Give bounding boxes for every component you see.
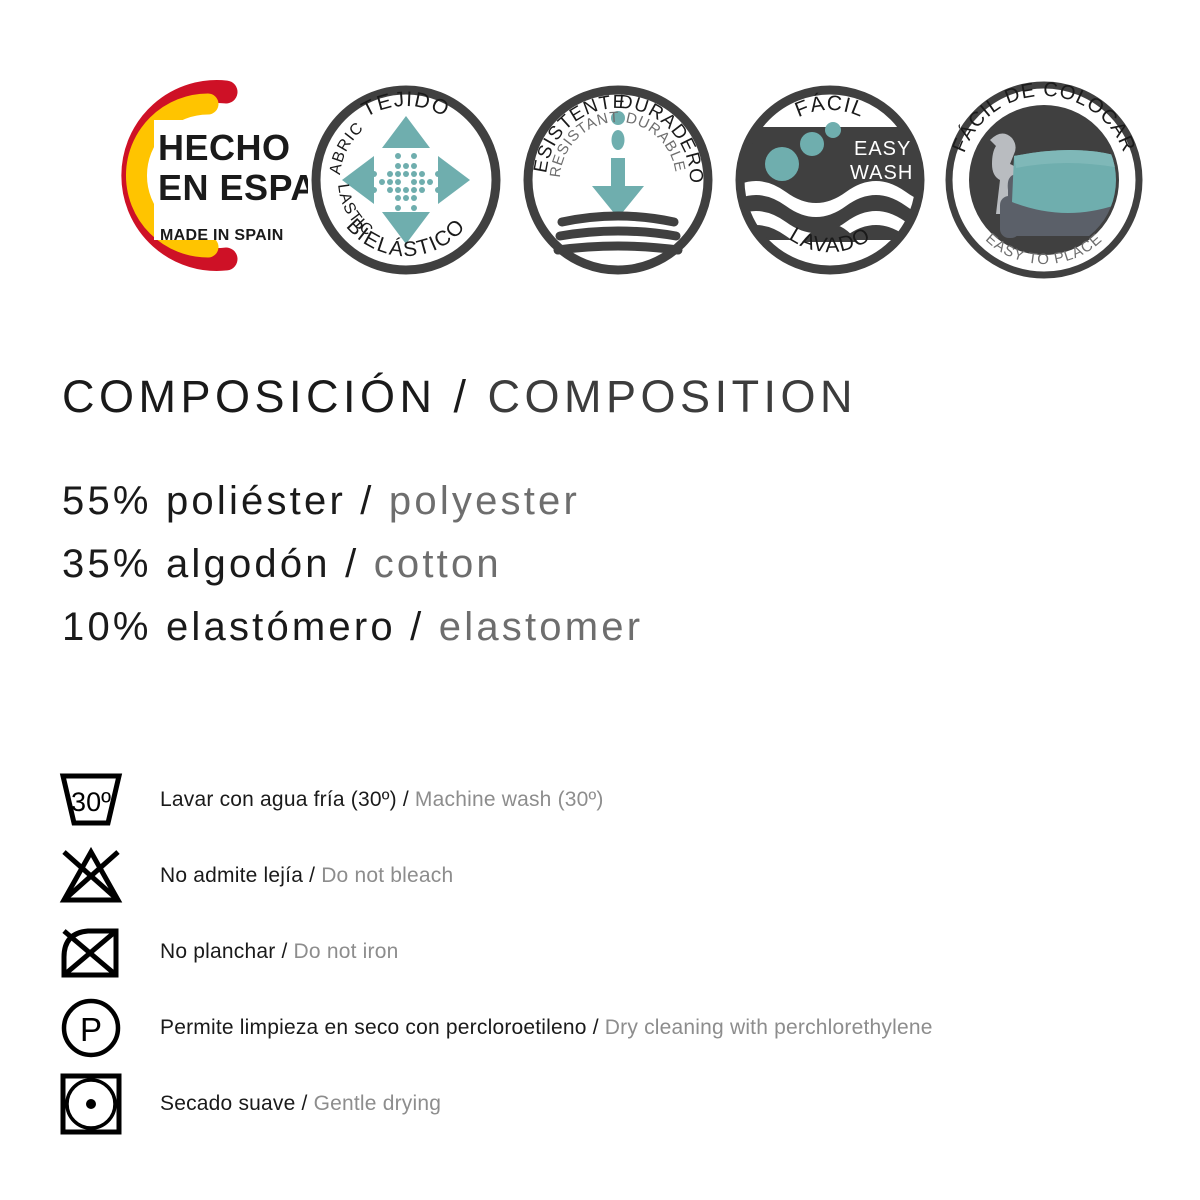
composition-item-en: cotton (374, 542, 502, 586)
care-text-en: Do not bleach (321, 864, 453, 887)
care-instruction-row: P Permite limpieza en seco con percloroe… (58, 990, 1158, 1066)
care-instruction-text: No admite lejía / Do not bleach (138, 863, 453, 888)
composition-item-en: elastomer (439, 605, 643, 649)
composition-heading: COMPOSICIÓN / COMPOSITION (62, 372, 1122, 422)
gentle-tumble-dry-icon (58, 1068, 138, 1140)
bubble-medium (800, 132, 824, 156)
care-text-es: No admite lejía (160, 864, 303, 887)
composition-item-sep: / (331, 542, 374, 586)
facil-lavado-badge: FÁCIL LAVADO EASY WASH (732, 82, 928, 278)
tejido-bielastico-badge: TEJIDO BIELÁSTICO FABRIC BIELASTIC (308, 82, 504, 278)
product-care-label-page: HECHO EN ESPAÑA MADE IN SPAIN (0, 0, 1200, 1200)
composition-section: COMPOSICIÓN / COMPOSITION 55% poliéster … (62, 372, 1122, 659)
resistente-duradero-badge: RESISTENTE DURADERO RESISTANT DURABLE (520, 82, 716, 278)
composition-list: 55% poliéster / polyester 35% algodón / … (62, 470, 1122, 659)
facil-de-colocar-badge: FÁCIL DE COLOCAR EASY TO PLACE (942, 78, 1146, 282)
care-text-en: Do not iron (294, 940, 399, 963)
easy-label: EASY (854, 138, 911, 160)
care-instruction-text: Secado suave / Gentle drying (138, 1091, 441, 1116)
care-text-es: No planchar (160, 940, 275, 963)
composition-item-es: 10% elastómero (62, 605, 396, 649)
dry-clean-letter: P (80, 1011, 102, 1048)
wash-30-icon: 30º (58, 764, 138, 836)
composition-item: 10% elastómero / elastomer (62, 596, 1122, 659)
care-instruction-row: 30º Lavar con agua fría (30º) / Machine … (58, 762, 1158, 838)
composition-item-es: 55% poliéster (62, 479, 346, 523)
composition-item-en: polyester (389, 479, 580, 523)
do-not-bleach-icon (58, 840, 138, 912)
composition-item-sep: / (346, 479, 389, 523)
care-instruction-text: No planchar / Do not iron (138, 939, 398, 964)
dry-clean-p-icon: P (58, 992, 138, 1064)
care-text-en: Gentle drying (314, 1092, 442, 1115)
care-text-es: Lavar con agua fría (30º) (160, 788, 397, 811)
bubble-small (825, 122, 841, 138)
care-instruction-text: Permite limpieza en seco con percloroeti… (138, 1015, 933, 1040)
care-instruction-row: No admite lejía / Do not bleach (58, 838, 1158, 914)
care-text-en: Machine wash (30º) (415, 788, 604, 811)
care-text-es: Secado suave (160, 1092, 296, 1115)
surface-layer-3 (558, 246, 678, 250)
wash-label: WASH (850, 162, 913, 184)
hecho-en-espana-badge: HECHO EN ESPAÑA MADE IN SPAIN (58, 68, 308, 283)
care-text-sep: / (303, 864, 321, 887)
composition-heading-en: COMPOSITION (488, 371, 858, 422)
care-text-sep: / (296, 1092, 314, 1115)
composition-item: 55% poliéster / polyester (62, 470, 1122, 533)
composition-item-sep: / (396, 605, 439, 649)
care-instructions-section: 30º Lavar con agua fría (30º) / Machine … (58, 762, 1158, 1142)
care-instruction-row: Secado suave / Gentle drying (58, 1066, 1158, 1142)
drop-dot-2 (612, 130, 625, 150)
composition-item: 35% algodón / cotton (62, 533, 1122, 596)
bubble-large (765, 147, 799, 181)
hecho-line-1: HECHO (158, 127, 291, 168)
care-text-en: Dry cleaning with perchlorethylene (605, 1016, 933, 1039)
composition-heading-sep: / (437, 371, 488, 422)
care-instruction-row: No planchar / Do not iron (58, 914, 1158, 990)
care-text-sep: / (587, 1016, 605, 1039)
do-not-iron-icon (58, 916, 138, 988)
composition-item-es: 35% algodón (62, 542, 331, 586)
care-instruction-text: Lavar con agua fría (30º) / Machine wash… (138, 787, 604, 812)
composition-heading-es: COMPOSICIÓN (62, 371, 437, 422)
wash-temp-label: 30º (71, 787, 111, 817)
certification-badges-row: HECHO EN ESPAÑA MADE IN SPAIN (0, 60, 1200, 290)
care-text-sep: / (275, 940, 293, 963)
hecho-line-3: MADE IN SPAIN (160, 227, 284, 244)
care-text-sep: / (397, 788, 415, 811)
hecho-line-2: EN ESPAÑA (158, 166, 308, 208)
surface-layer-2 (560, 231, 676, 236)
care-text-es: Permite limpieza en seco con percloroeti… (160, 1016, 587, 1039)
